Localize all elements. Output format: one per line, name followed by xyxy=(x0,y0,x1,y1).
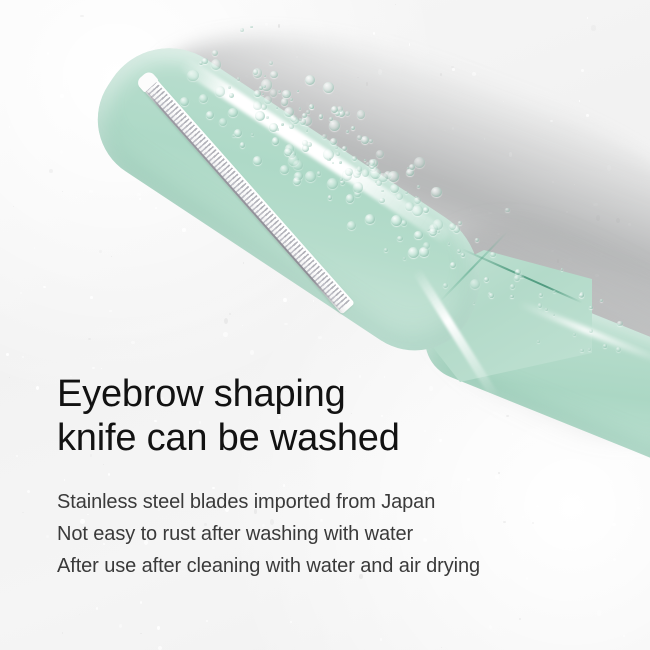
page-title: Eyebrow shaping knife can be washed xyxy=(57,372,617,460)
marketing-copy: Eyebrow shaping knife can be washed Stai… xyxy=(57,372,617,582)
feature-item: Stainless steel blades imported from Jap… xyxy=(57,486,617,518)
feature-item: Not easy to rust after washing with wate… xyxy=(57,518,617,550)
feature-item: After use after cleaning with water and … xyxy=(57,550,617,582)
product-banner: Eyebrow shaping knife can be washed Stai… xyxy=(0,0,650,650)
feature-list: Stainless steel blades imported from Jap… xyxy=(57,486,617,582)
